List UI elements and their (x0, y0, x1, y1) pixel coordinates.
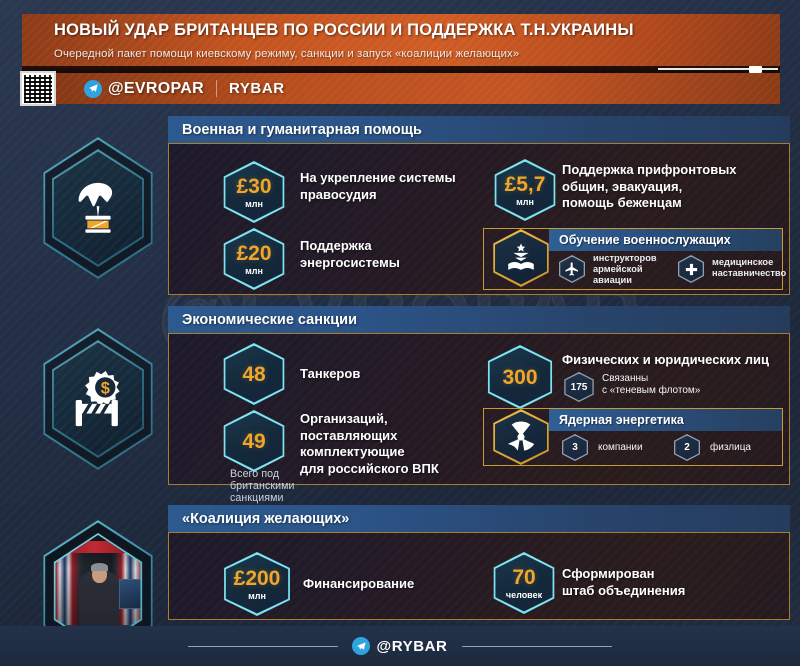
subpanel-header-training: Обучение военнослужащих (549, 229, 782, 251)
value-hex-200m: £200 млн (219, 552, 295, 616)
badge-hex-3-companies: 3 (560, 434, 590, 461)
book-rank-insignia-icon (489, 229, 553, 287)
label-energy-support: Поддержка энергосистемы (300, 238, 465, 271)
footer-divider-left (188, 646, 338, 647)
slider-knob[interactable] (749, 66, 762, 73)
header-progress-slider[interactable] (22, 66, 780, 73)
page-subtitle: Очередной пакет помощи киевскому режиму,… (54, 48, 780, 60)
section-header-military: Военная и гуманитарная помощь (168, 116, 790, 143)
page-title: НОВЫЙ УДАР БРИТАНЦЕВ ПО РОССИИ И ПОДДЕРЖ… (54, 21, 780, 40)
section-title: «Коалиция желающих» (182, 511, 349, 527)
value: £30 (236, 175, 271, 198)
label-medical-mentoring: медицинское наставничество (712, 257, 792, 279)
value: £20 (236, 242, 271, 265)
value-hex-20m: £20 млн (219, 228, 289, 290)
badge-hex-175: 175 (562, 372, 596, 402)
value-hex-300: 300 (483, 345, 557, 409)
subpanel-header-nuclear: Ядерная энергетика (549, 409, 782, 431)
qr-code-icon[interactable] (20, 71, 56, 106)
value-hex-70: 70 человек (489, 552, 559, 614)
section-title: Экономические санкции (182, 312, 357, 328)
label-aviation-instructors: инструкторов армейской авиации (593, 253, 665, 286)
infographic-page: @EVROPAR RYBAR НОВЫЙ УДАР БРИТАНЦЕВ ПО Р… (0, 0, 800, 666)
brand-divider (216, 80, 217, 97)
value: 300 (502, 366, 537, 389)
value: 48 (242, 363, 265, 386)
footer-brand-name[interactable]: @RYBAR (376, 638, 447, 655)
value: £5,7 (505, 173, 546, 196)
svg-text:$: $ (101, 380, 110, 398)
unit: млн (236, 200, 271, 209)
label-tankers: Танкеров (300, 366, 470, 383)
source-name[interactable]: RYBAR (229, 80, 285, 97)
footer: @RYBAR (0, 626, 800, 666)
unit: млн (234, 592, 281, 601)
label-vpk-suppliers: Организаций, поставляющих комплектующие … (300, 411, 480, 478)
unit: млн (505, 198, 546, 207)
label-hq-formed: Сформирован штаб объединения (562, 566, 782, 599)
header-banner: НОВЫЙ УДАР БРИТАНЦЕВ ПО РОССИИ И ПОДДЕРЖ… (22, 14, 780, 68)
header-brand-bar: @EVROPAR RYBAR (22, 73, 780, 104)
value: 70 (512, 566, 535, 589)
telegram-icon (84, 80, 102, 98)
value: 3 (572, 442, 578, 453)
section-header-sanctions: Экономические санкции (168, 306, 790, 333)
value: 49 (242, 430, 265, 453)
label-individuals: физлица (710, 442, 800, 454)
value: £200 (234, 567, 281, 590)
footer-divider-right (462, 646, 612, 647)
section-title: Военная и гуманитарная помощь (182, 122, 422, 138)
value: 2 (684, 442, 690, 453)
subpanel-title: Обучение военнослужащих (559, 233, 731, 247)
brand-row: @EVROPAR RYBAR (84, 80, 285, 98)
airplane-icon (557, 255, 587, 283)
footer-brand[interactable]: @RYBAR (352, 637, 447, 655)
unit: млн (236, 267, 271, 276)
section-header-coalition: «Коалиция желающих» (168, 505, 790, 532)
value: 175 (571, 382, 588, 393)
unit: человек (506, 591, 542, 600)
qr-code-pattern (24, 75, 52, 103)
channel-name[interactable]: @EVROPAR (108, 80, 204, 98)
label-persons-entities: Физических и юридических лиц (562, 352, 792, 369)
label-shadow-fleet: Связанны с «теневым флотом» (602, 373, 777, 397)
gear-dollar-barrier-icon: $ (35, 328, 161, 470)
label-frontline-communities: Поддержка прифронтовых общин, эвакуация,… (562, 162, 782, 212)
label-financing: Финансирование (303, 576, 483, 593)
value-hex-48: 48 (219, 343, 289, 405)
subpanel-title: Ядерная энергетика (559, 413, 684, 427)
value-hex-49: 49 (219, 410, 289, 472)
label-justice-system: На укрепление системы правосудия (300, 170, 465, 203)
value-hex-30m: £30 млн (219, 161, 289, 223)
medical-cross-icon (676, 255, 706, 283)
badge-hex-2-individuals: 2 (672, 434, 702, 461)
telegram-icon (352, 637, 370, 655)
value-hex-5-7m: £5,7 млн (490, 159, 560, 221)
parachute-supply-drop-icon (35, 137, 161, 279)
radiation-icon (489, 409, 553, 465)
